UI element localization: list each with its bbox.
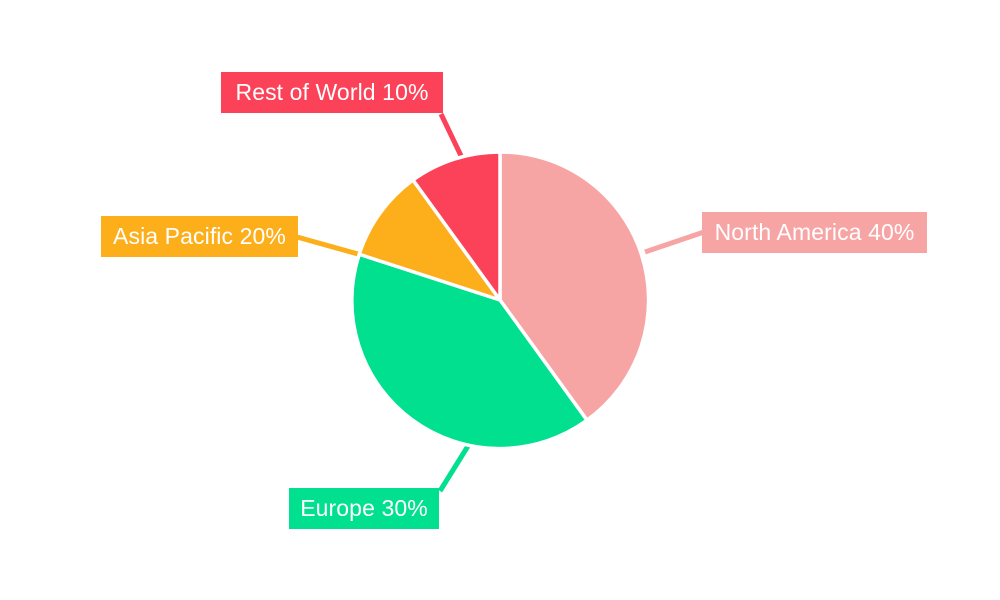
leader-line-rest-of-world <box>441 114 464 162</box>
pie-label-asia-pacific-text: Asia Pacific 20% <box>113 225 286 248</box>
pie-label-north-america-text: North America 40% <box>715 221 915 244</box>
pie-label-asia-pacific[interactable]: Asia Pacific 20% <box>101 216 298 257</box>
pie-label-north-america[interactable]: North America 40% <box>702 212 927 253</box>
leader-line-north-america <box>645 232 704 252</box>
pie-chart-canvas: North America 40% Europe 30% Asia Pacifi… <box>0 0 1000 600</box>
leader-line-europe <box>440 446 468 491</box>
pie-label-rest-of-world-text: Rest of World 10% <box>235 81 428 104</box>
pie-label-rest-of-world[interactable]: Rest of World 10% <box>221 72 443 113</box>
pie-label-europe[interactable]: Europe 30% <box>289 488 439 529</box>
pie-label-europe-text: Europe 30% <box>300 497 428 520</box>
leader-line-asia-pacific <box>297 237 358 254</box>
pie-chart-svg <box>0 0 1000 600</box>
